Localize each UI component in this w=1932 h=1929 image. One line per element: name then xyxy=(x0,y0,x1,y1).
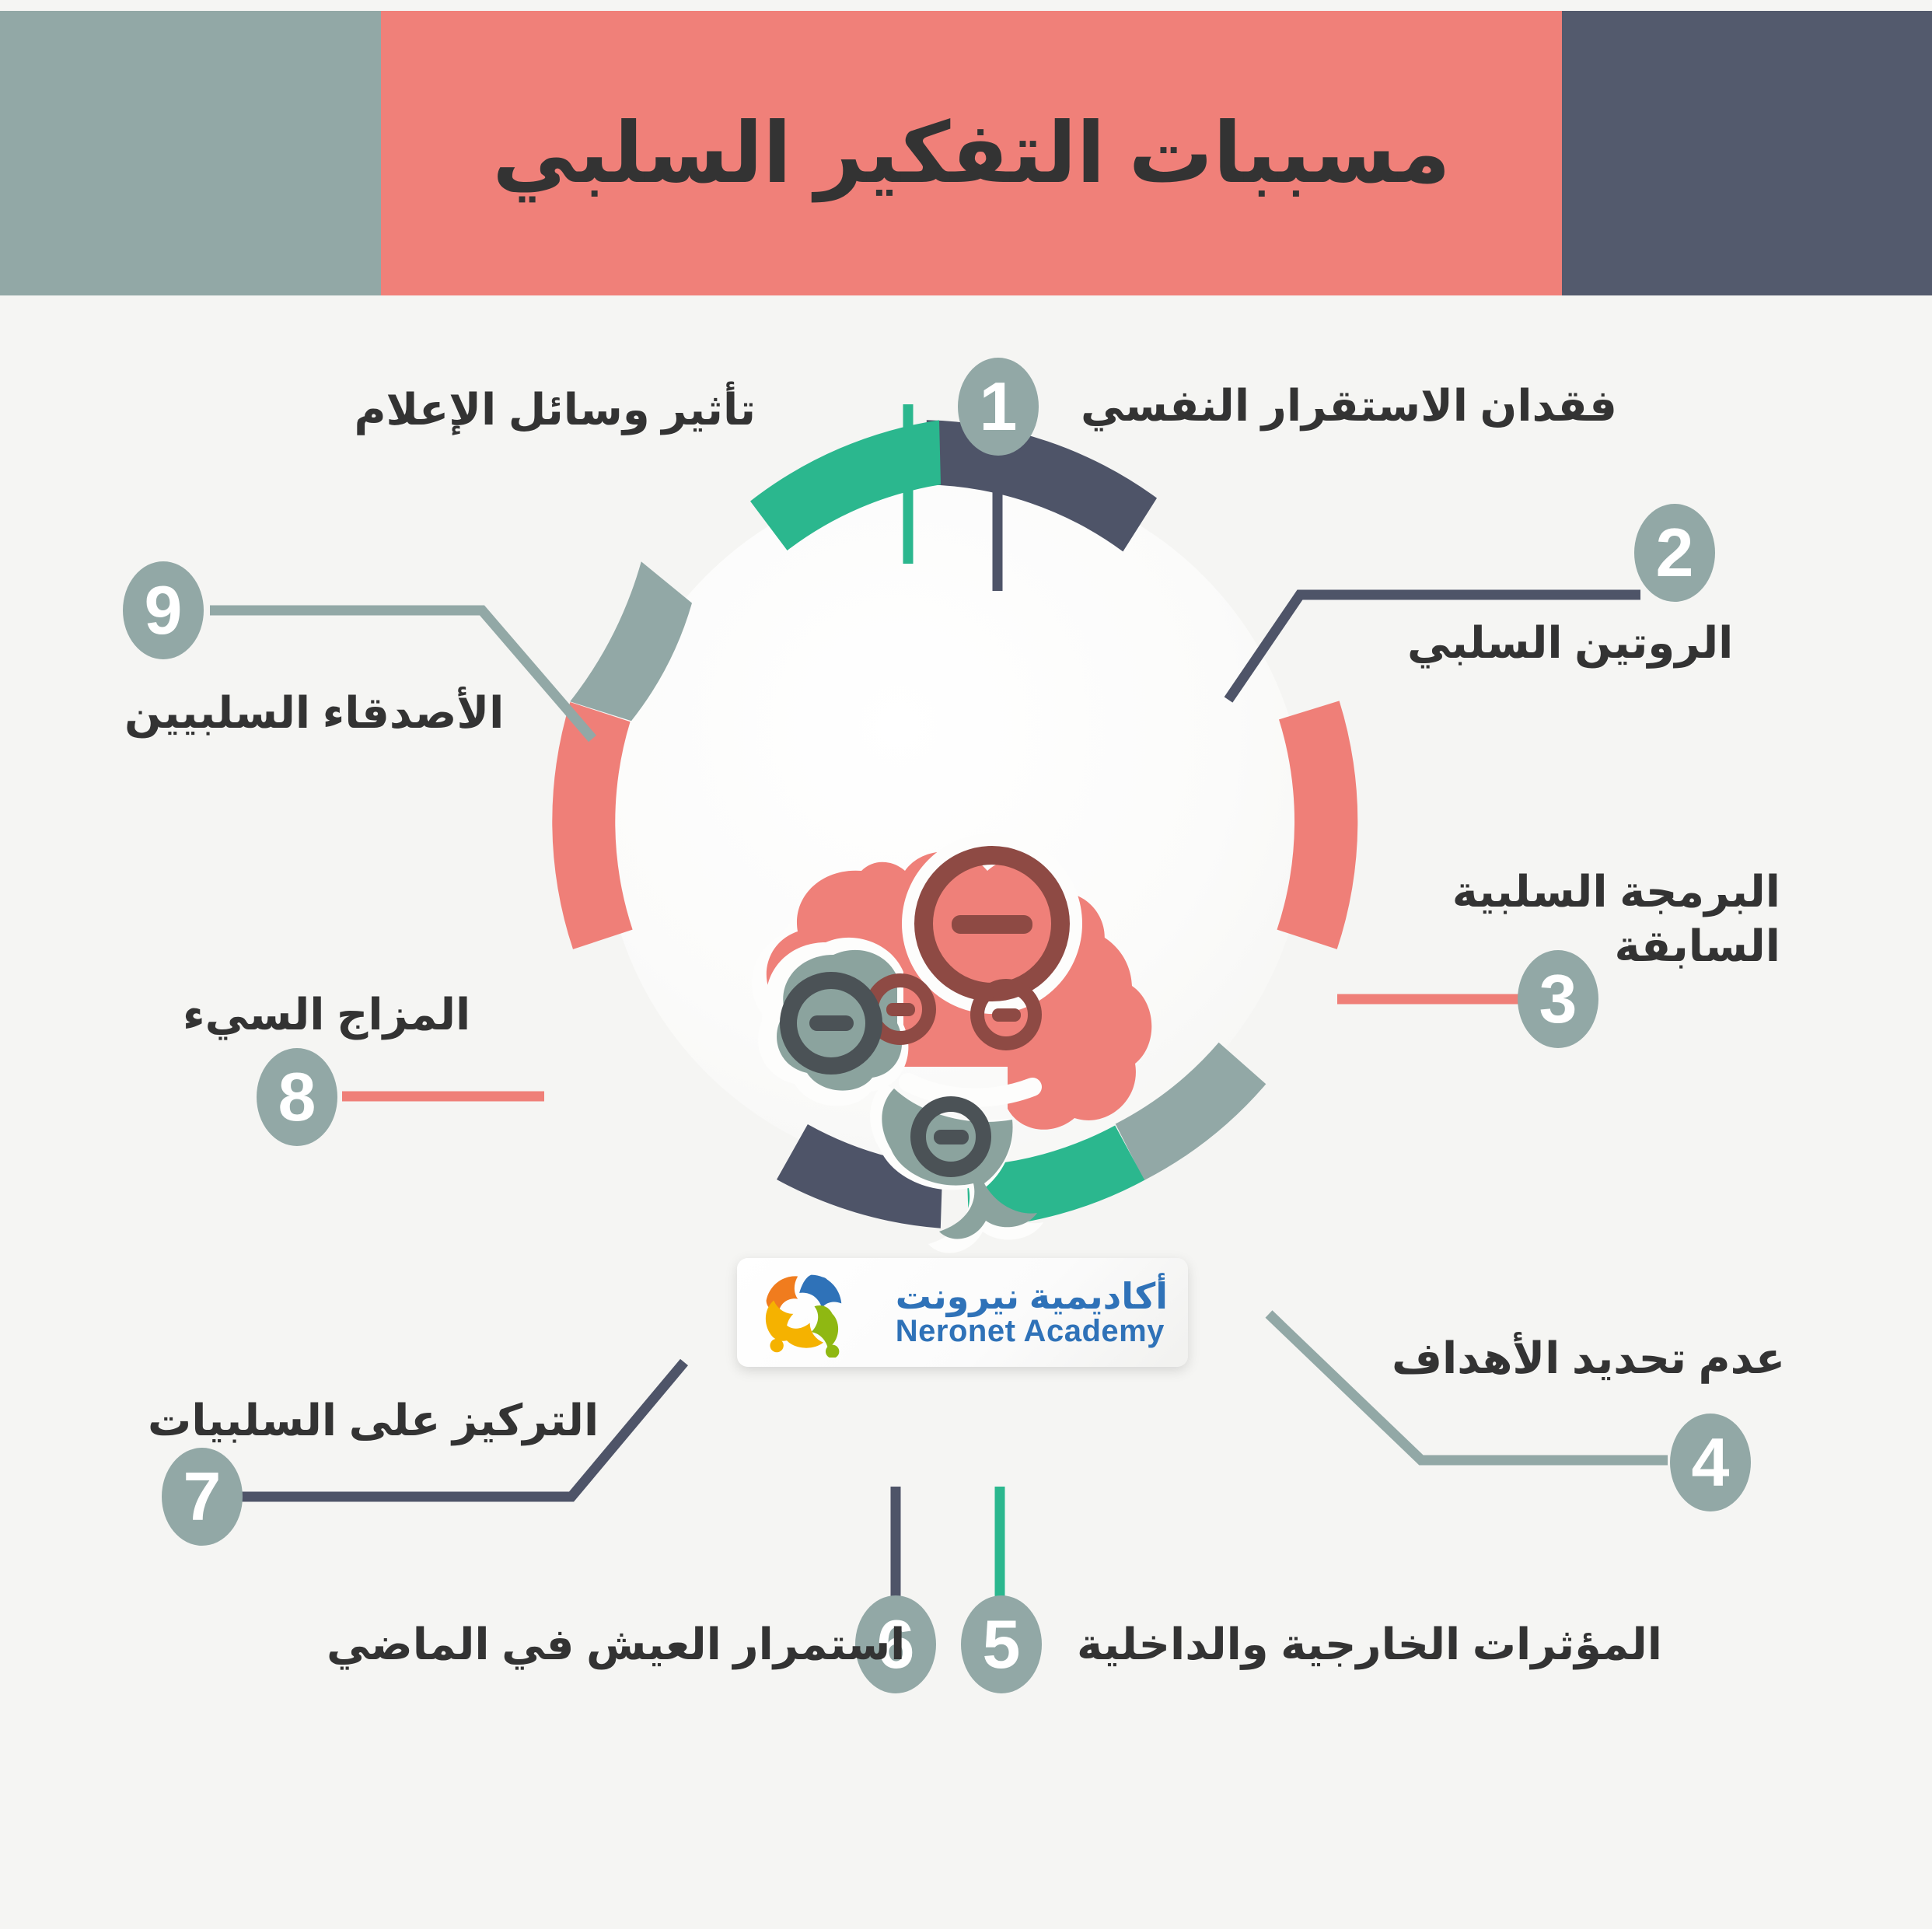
ring-segment-1 xyxy=(927,420,1157,551)
ring-segment-3 xyxy=(1277,701,1358,949)
number-badge-9[interactable]: 9 xyxy=(123,561,204,659)
number-badge-1[interactable]: 1 xyxy=(958,358,1039,456)
label-3: البرمجة السلبية السابقة xyxy=(1446,865,1780,973)
label-4: عدم تحديد الأهداف xyxy=(1392,1330,1785,1387)
number-badge-7[interactable]: 7 xyxy=(162,1448,243,1546)
label-8: المزاج السيء xyxy=(183,986,470,1043)
label-5: المؤثرات الخارجية والداخلية xyxy=(1077,1616,1662,1673)
label-media: تأثير وسائل الإعلام xyxy=(354,381,756,439)
infographic-canvas: مسببات التفكير السلبي xyxy=(0,0,1932,1929)
label-6: استمرار العيش في الماضي xyxy=(327,1616,905,1673)
page-title: مسببات التفكير السلبي xyxy=(381,11,1562,295)
brand-logo[interactable]: أكاديمية نيرونت Neronet Academy xyxy=(737,1258,1188,1367)
brand-name-arabic: أكاديمية نيرونت xyxy=(896,1277,1168,1315)
ring-segment-9 xyxy=(570,561,692,721)
label-9: الأصدقاء السلبيين xyxy=(124,684,504,742)
header-band-right xyxy=(1562,11,1932,295)
number-badge-5[interactable]: 5 xyxy=(961,1595,1042,1693)
number-badge-8[interactable]: 8 xyxy=(257,1048,337,1146)
ring-segment-media xyxy=(750,420,941,550)
brain-illustration xyxy=(681,778,1210,1260)
ring-segment-8 xyxy=(552,702,632,949)
label-2: الروتين السلبي xyxy=(1407,614,1733,672)
label-7: التركيز على السلبيات xyxy=(148,1392,599,1449)
four-people-circle-icon xyxy=(757,1267,847,1358)
brand-name-english: Neronet Academy xyxy=(896,1315,1165,1347)
label-1: فقدان الاستقرار النفسي xyxy=(1081,377,1617,435)
number-badge-2[interactable]: 2 xyxy=(1634,504,1715,602)
number-badge-4[interactable]: 4 xyxy=(1670,1414,1751,1511)
header-banner: مسببات التفكير السلبي xyxy=(0,11,1932,295)
brand-logo-text: أكاديمية نيرونت Neronet Academy xyxy=(896,1277,1168,1347)
header-band-left xyxy=(0,11,381,295)
